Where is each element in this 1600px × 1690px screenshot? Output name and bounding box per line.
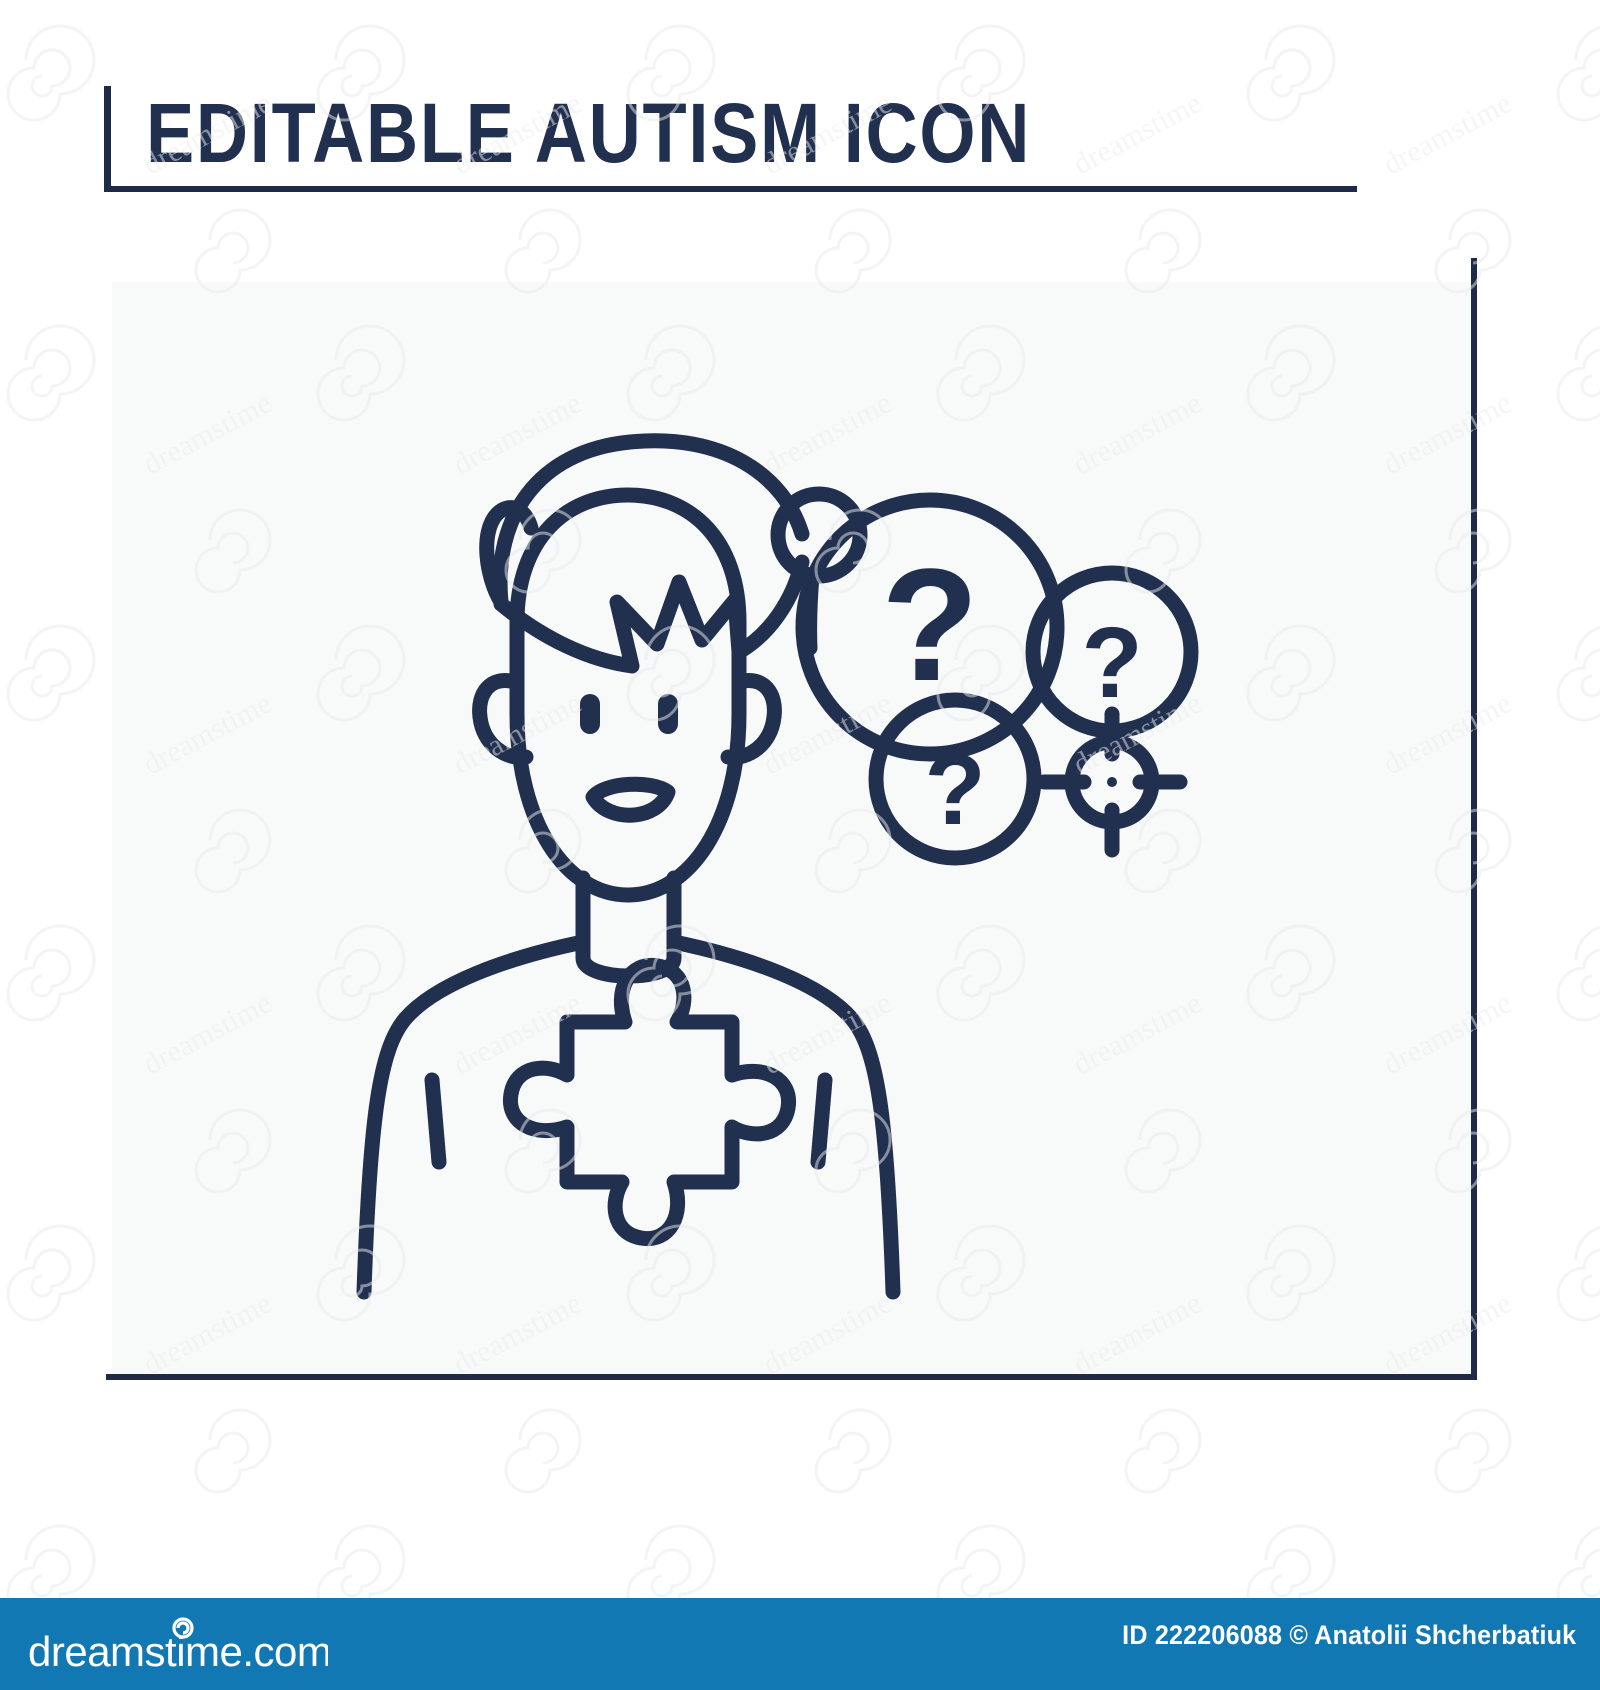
crosshair-target	[1044, 714, 1180, 850]
left-sleeve-line	[432, 1080, 439, 1162]
right-sleeve-line	[818, 1080, 825, 1162]
autism-illustration: ? ? ?	[112, 282, 1477, 1377]
question-mark-small: ?	[1081, 607, 1142, 719]
open-mouth	[593, 784, 668, 815]
dreamstime-logo[interactable]: dreamstime.com	[28, 1616, 328, 1674]
dreamstime-logo-text: dreamstime.com	[28, 1628, 328, 1674]
footer-bar: dreamstime.com ID 222206088 © Anatolii S…	[0, 1598, 1600, 1690]
head-outline	[517, 495, 739, 895]
question-mark-large: ?	[881, 535, 979, 714]
header-vertical-rule	[104, 86, 111, 192]
header: EDITABLE AUTISM ICON	[0, 0, 1600, 230]
spiky-hair	[501, 562, 802, 666]
question-mark-medium: ?	[924, 734, 985, 846]
shirt-left	[364, 942, 583, 1292]
hair-bun-strand	[810, 576, 812, 648]
puzzle-piece	[510, 965, 788, 1238]
footer-credit: ID 222206088 © Anatolii Shcherbatiuk	[1122, 1620, 1576, 1651]
page-title: EDITABLE AUTISM ICON	[146, 78, 1178, 188]
